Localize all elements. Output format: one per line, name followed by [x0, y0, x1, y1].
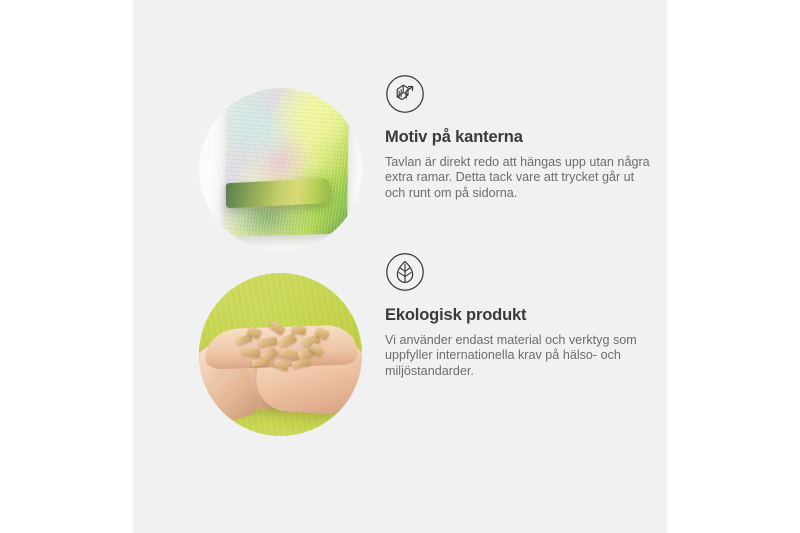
canvas-print-corner-photo — [199, 88, 362, 251]
feature-description: Tavlan är direkt redo att hängas upp uta… — [385, 155, 653, 202]
wood-chip-pile — [232, 320, 336, 372]
feature-title: Ekologisk produkt — [385, 306, 667, 326]
product-feature-infographic: Motiv på kanterna Tavlan är direkt redo … — [0, 0, 800, 533]
content-panel: Motiv på kanterna Tavlan är direkt redo … — [133, 0, 667, 533]
canvas-print-body — [226, 88, 348, 234]
feature-text-column-edges: Motiv på kanterna Tavlan är direkt redo … — [385, 74, 667, 202]
hands-holding-wood-chips-photo — [199, 273, 362, 436]
feature-description: Vi använder endast material och verktyg … — [385, 333, 653, 380]
feature-title: Motiv på kanterna — [385, 128, 667, 148]
canvas-wrapped-edge-icon — [385, 74, 425, 114]
canvas-print-face — [223, 88, 349, 237]
feature-block-eco: Ekologisk produkt Vi använder endast mat… — [133, 252, 667, 442]
leaf-icon — [385, 252, 425, 292]
feature-text-column-eco: Ekologisk produkt Vi använder endast mat… — [385, 252, 667, 380]
feature-block-edges: Motiv på kanterna Tavlan är direkt redo … — [133, 74, 667, 254]
